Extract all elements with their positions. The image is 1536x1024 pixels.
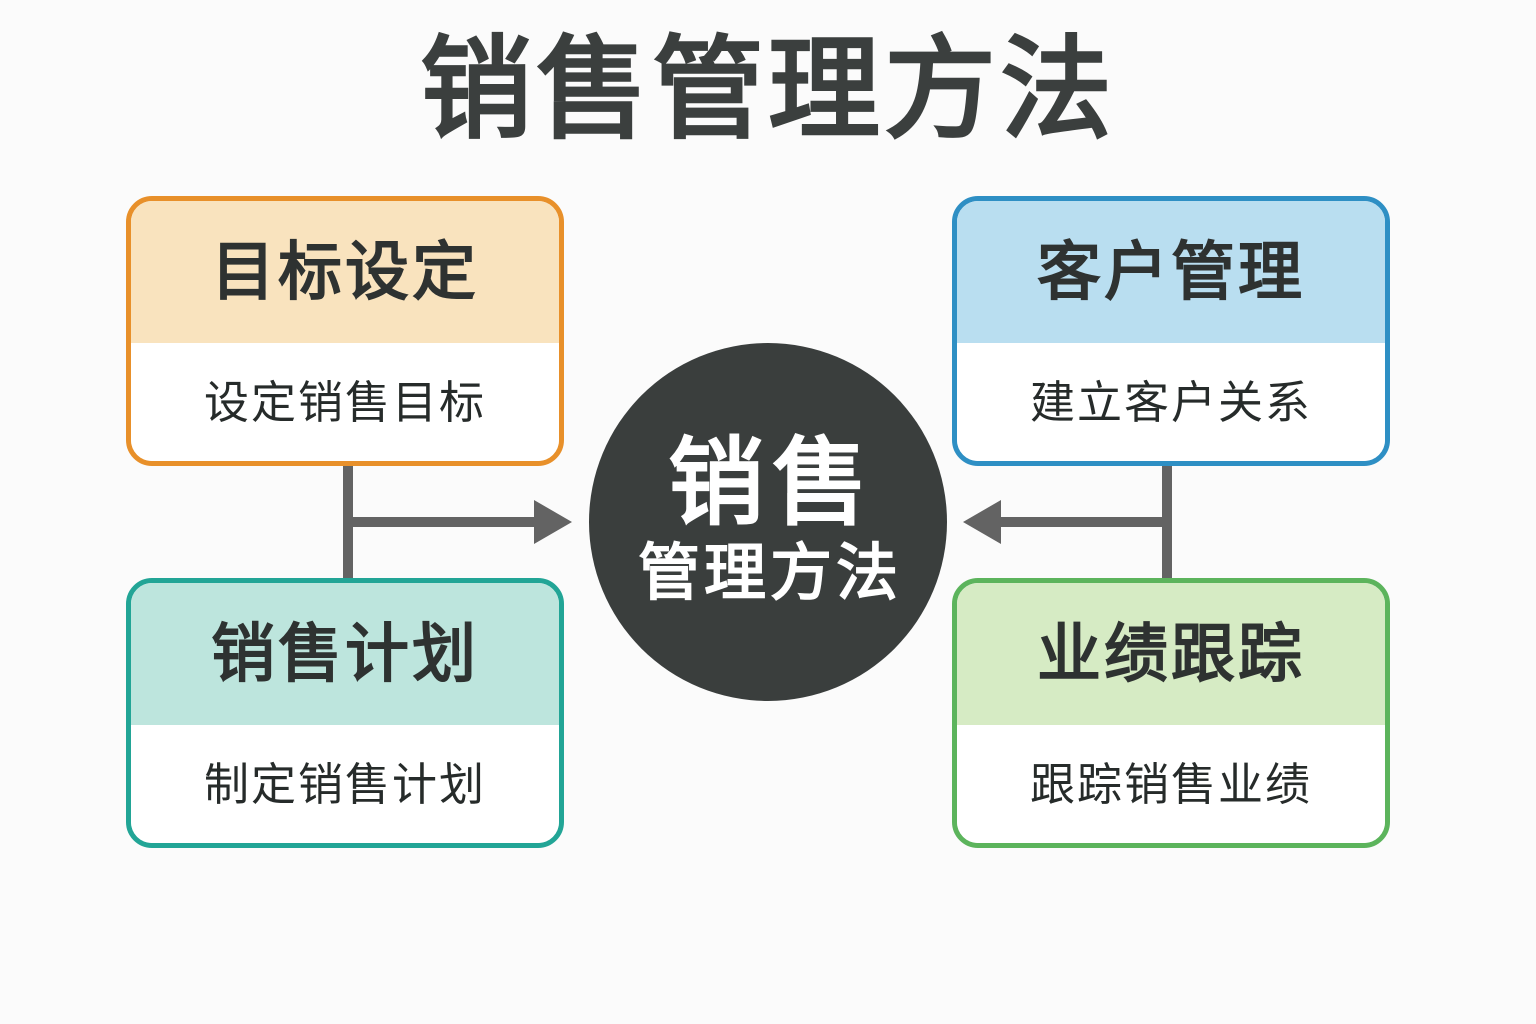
center-hub-node[interactable]: 销售 管理方法 (589, 343, 947, 701)
center-hub-label-secondary: 管理方法 (634, 539, 902, 608)
arrow-head-left-icon (963, 500, 1001, 544)
arrow-head-right-icon (534, 500, 572, 544)
card-track-title: 业绩跟踪 (1037, 622, 1305, 686)
card-track[interactable]: 业绩跟踪 跟踪销售业绩 (952, 578, 1390, 848)
card-customer-title: 客户管理 (1037, 240, 1305, 304)
card-customer-body: 建立客户关系 (957, 343, 1385, 461)
card-track-body: 跟踪销售业绩 (957, 725, 1385, 843)
card-goal[interactable]: 目标设定 设定销售目标 (126, 196, 564, 466)
card-customer[interactable]: 客户管理 建立客户关系 (952, 196, 1390, 466)
center-hub-label-primary: 销售 (660, 435, 876, 533)
card-goal-title: 目标设定 (211, 240, 479, 304)
card-plan-header: 销售计划 (131, 583, 559, 725)
card-plan[interactable]: 销售计划 制定销售计划 (126, 578, 564, 848)
card-plan-description: 制定销售计划 (204, 762, 486, 807)
card-track-header: 业绩跟踪 (957, 583, 1385, 725)
card-goal-description: 设定销售目标 (204, 380, 486, 425)
card-customer-description: 建立客户关系 (1030, 380, 1312, 425)
diagram-canvas: 销售管理方法 目标设定 设定销售目标 销售计划 制定销售计划 (0, 0, 1536, 1024)
card-customer-header: 客户管理 (957, 201, 1385, 343)
page-title: 销售管理方法 (0, 26, 1536, 155)
card-goal-body: 设定销售目标 (131, 343, 559, 461)
card-plan-body: 制定销售计划 (131, 725, 559, 843)
card-track-description: 跟踪销售业绩 (1030, 762, 1312, 807)
card-goal-header: 目标设定 (131, 201, 559, 343)
card-plan-title: 销售计划 (211, 622, 479, 686)
